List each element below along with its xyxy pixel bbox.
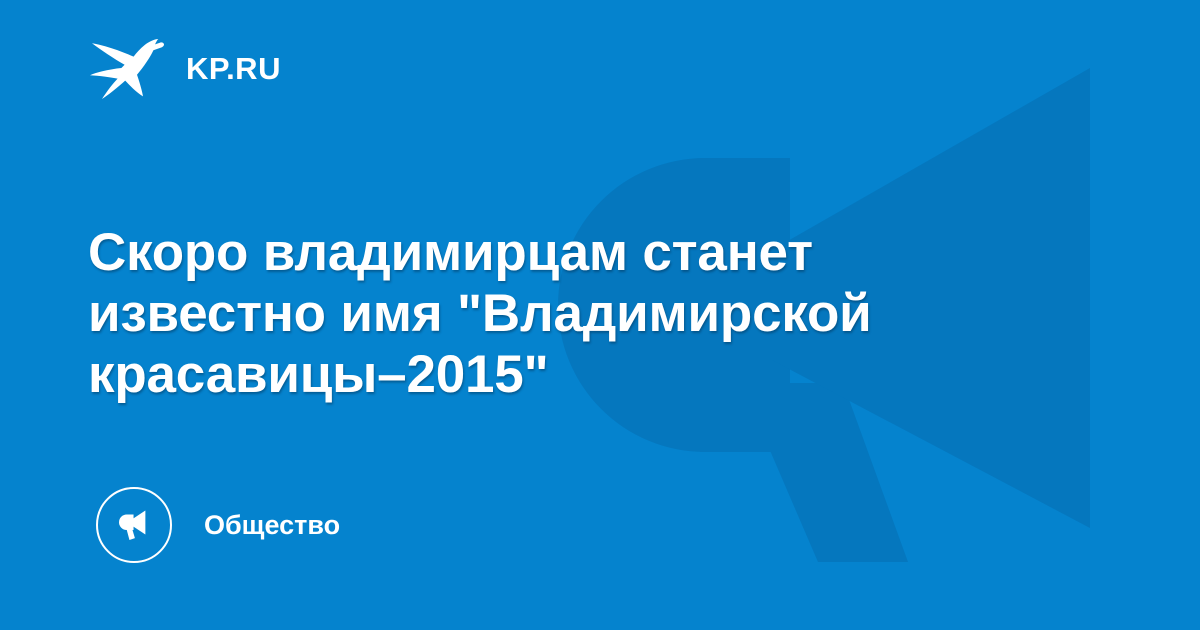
headline-line-2: известно имя "Владимирской — [88, 283, 988, 344]
category-row[interactable]: Общество — [96, 486, 340, 564]
swallow-bird-icon — [90, 37, 164, 99]
category-label: Общество — [204, 512, 340, 539]
megaphone-icon — [114, 505, 154, 545]
headline-line-3: красавицы–2015" — [88, 344, 988, 405]
logo-wordmark: KP.RU — [186, 53, 281, 84]
headline: Скоро владимирцам станет известно имя "В… — [88, 222, 988, 405]
social-share-card: KP.RU Скоро владимирцам станет известно … — [0, 0, 1200, 630]
category-badge[interactable] — [96, 487, 172, 563]
site-logo[interactable]: KP.RU — [90, 34, 281, 102]
headline-line-1: Скоро владимирцам станет — [88, 222, 988, 283]
